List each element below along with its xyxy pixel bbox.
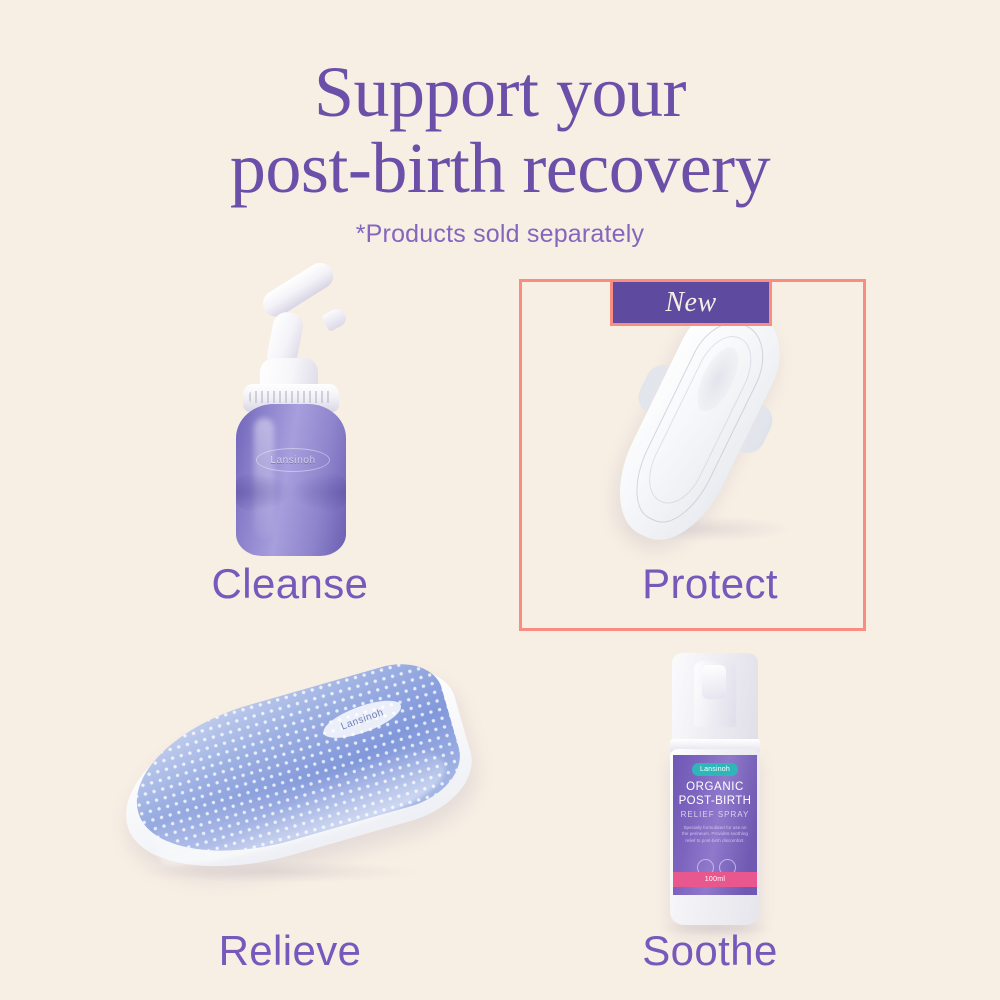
spray-bottle-label: Lansinoh ORGANIC POST-BIRTH RELIEF SPRAY… xyxy=(673,755,757,895)
product-caption-relieve: Relieve xyxy=(80,927,500,975)
maternity-pad-illustration xyxy=(560,288,860,558)
spray-bottle-description: Specially formulated for use on the peri… xyxy=(681,825,749,844)
product-grid: Lansinoh Cleanse Protect xyxy=(0,270,1000,970)
product-caption-cleanse: Cleanse xyxy=(80,560,500,608)
page-title-line-1: Support your xyxy=(0,54,1000,130)
product-card-relieve[interactable]: Lansinoh Relieve xyxy=(80,645,500,995)
spray-bottle-nozzle-inner xyxy=(702,665,726,699)
page-title-line-2: post-birth recovery xyxy=(0,130,1000,206)
peri-bottle-spout-upper xyxy=(258,258,338,321)
peri-bottle-brand-emboss: Lansinoh xyxy=(256,448,330,472)
peri-bottle-tip xyxy=(321,306,349,332)
peri-bottle-waist-shading xyxy=(236,468,346,516)
product-card-soothe[interactable]: Lansinoh ORGANIC POST-BIRTH RELIEF SPRAY… xyxy=(500,645,920,995)
spray-bottle-illustration: Lansinoh ORGANIC POST-BIRTH RELIEF SPRAY… xyxy=(650,645,790,930)
spray-bottle-title-line-1: ORGANIC xyxy=(673,781,757,793)
spray-bottle-title-line-3: RELIEF SPRAY xyxy=(673,810,757,819)
spray-bottle-brand-badge: Lansinoh xyxy=(692,763,738,776)
product-caption-soothe: Soothe xyxy=(500,927,920,975)
page-title: Support your post-birth recovery xyxy=(0,54,1000,206)
spray-bottle-volume: 100ml xyxy=(673,872,757,887)
page-subtitle: *Products sold separately xyxy=(0,220,1000,249)
cooling-pad-image: Lansinoh xyxy=(80,645,500,930)
peri-bottle-illustration: Lansinoh xyxy=(198,286,383,561)
product-caption-protect: Protect xyxy=(500,560,920,608)
new-badge: New xyxy=(610,279,772,326)
cooling-pad-illustration: Lansinoh xyxy=(110,665,480,915)
peri-bottle-image: Lansinoh xyxy=(80,278,500,563)
spray-bottle-title-line-2: POST-BIRTH xyxy=(673,795,757,807)
spray-bottle-image: Lansinoh ORGANIC POST-BIRTH RELIEF SPRAY… xyxy=(500,645,920,930)
product-card-cleanse[interactable]: Lansinoh Cleanse xyxy=(80,278,500,628)
product-card-protect[interactable]: Protect xyxy=(500,278,920,628)
